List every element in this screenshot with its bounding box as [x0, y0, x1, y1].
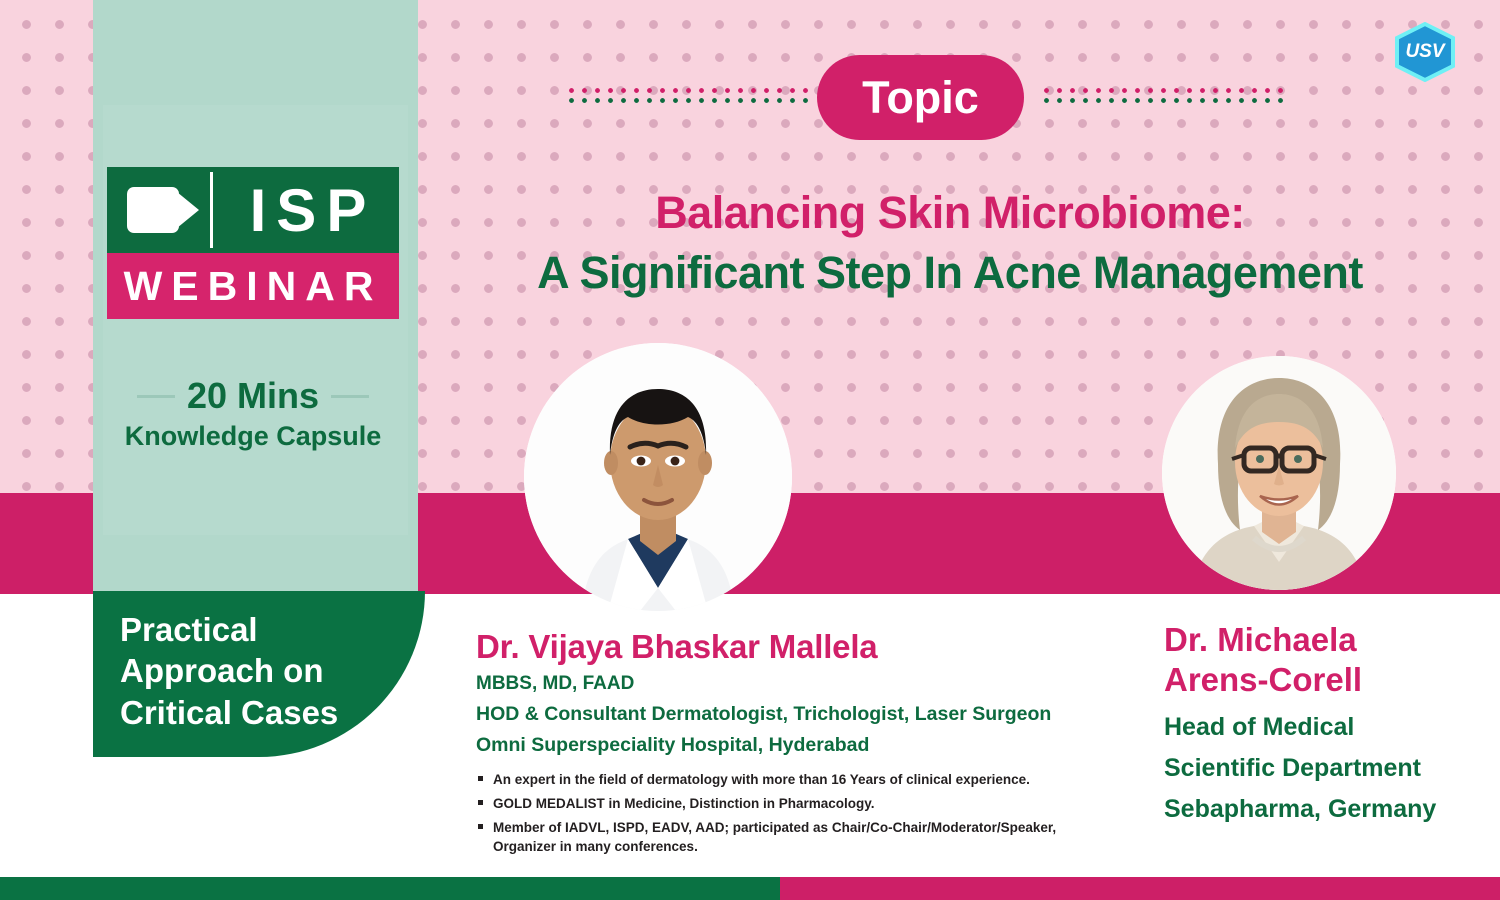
callout-line-2: Approach on	[120, 650, 338, 692]
speaker-1-qualifications: MBBS, MD, FAAD	[476, 673, 1076, 695]
usv-logo: USV	[1393, 22, 1457, 82]
video-camera-icon	[127, 187, 202, 233]
duration-text: 20 Mins	[187, 378, 319, 414]
logo-subtitle: WEBINAR	[107, 253, 399, 319]
title-line-2: A Significant Step In Acne Management	[430, 246, 1470, 300]
bottom-bar-green	[0, 877, 780, 900]
webinar-poster: ISP WEBINAR 20 Mins Knowledge Capsule Pr…	[0, 0, 1500, 900]
speaker-1-affiliation: Omni Superspeciality Hospital, Hyderabad	[476, 734, 1076, 757]
usv-logo-text: USV	[1393, 22, 1457, 82]
speaker-1-details: Dr. Vijaya Bhaskar Mallela MBBS, MD, FAA…	[476, 628, 1076, 862]
speaker-2-name-line-2: Arens-Corell	[1164, 660, 1494, 700]
logo-divider	[210, 172, 213, 248]
speaker-1-bullet-list: An expert in the field of dermatology wi…	[476, 770, 1076, 857]
list-item: GOLD MEDALIST in Medicine, Distinction i…	[476, 794, 1076, 813]
speaker-1-designation: HOD & Consultant Dermatologist, Tricholo…	[476, 703, 1076, 726]
speaker-1-name: Dr. Vijaya Bhaskar Mallela	[476, 628, 1076, 666]
divider-line-right	[331, 395, 369, 398]
dotted-rule-left	[565, 88, 810, 104]
speaker-2-name-line-1: Dr. Michaela	[1164, 620, 1494, 660]
webinar-title: Balancing Skin Microbiome: A Significant…	[430, 186, 1470, 300]
callout-line-1: Practical	[120, 609, 338, 651]
duration-block: 20 Mins Knowledge Capsule	[107, 378, 399, 452]
bottom-bar-pink	[780, 877, 1500, 900]
divider-line-left	[137, 395, 175, 398]
bottom-accent-bar	[0, 877, 1500, 900]
speaker-2-name: Dr. Michaela Arens-Corell	[1164, 620, 1494, 701]
logo-initials: ISP	[227, 167, 399, 253]
speaker-2-role-line-3: Sebapharma, Germany	[1164, 795, 1494, 824]
duration-row: 20 Mins	[107, 378, 399, 414]
speaker-2-role-line-2: Scientific Department	[1164, 754, 1494, 783]
title-line-1: Balancing Skin Microbiome:	[430, 186, 1470, 240]
dotted-rule-right	[1040, 88, 1285, 104]
list-item: An expert in the field of dermatology wi…	[476, 770, 1076, 789]
speaker-2-photo	[1162, 356, 1396, 590]
speaker-2-details: Dr. Michaela Arens-Corell Head of Medica…	[1164, 620, 1494, 824]
topic-badge: Topic	[817, 55, 1024, 140]
isp-webinar-logo: ISP WEBINAR	[107, 167, 399, 319]
logo-top-bar: ISP	[107, 167, 399, 253]
duration-subtitle: Knowledge Capsule	[107, 421, 399, 452]
topic-badge-label: Topic	[862, 72, 979, 124]
callout-text: Practical Approach on Critical Cases	[93, 609, 338, 740]
speaker-1-photo	[524, 343, 792, 611]
speaker-2-role-line-1: Head of Medical	[1164, 713, 1494, 742]
list-item: Member of IADVL, ISPD, EADV, AAD; partic…	[476, 818, 1076, 856]
callout-line-3: Critical Cases	[120, 692, 338, 734]
